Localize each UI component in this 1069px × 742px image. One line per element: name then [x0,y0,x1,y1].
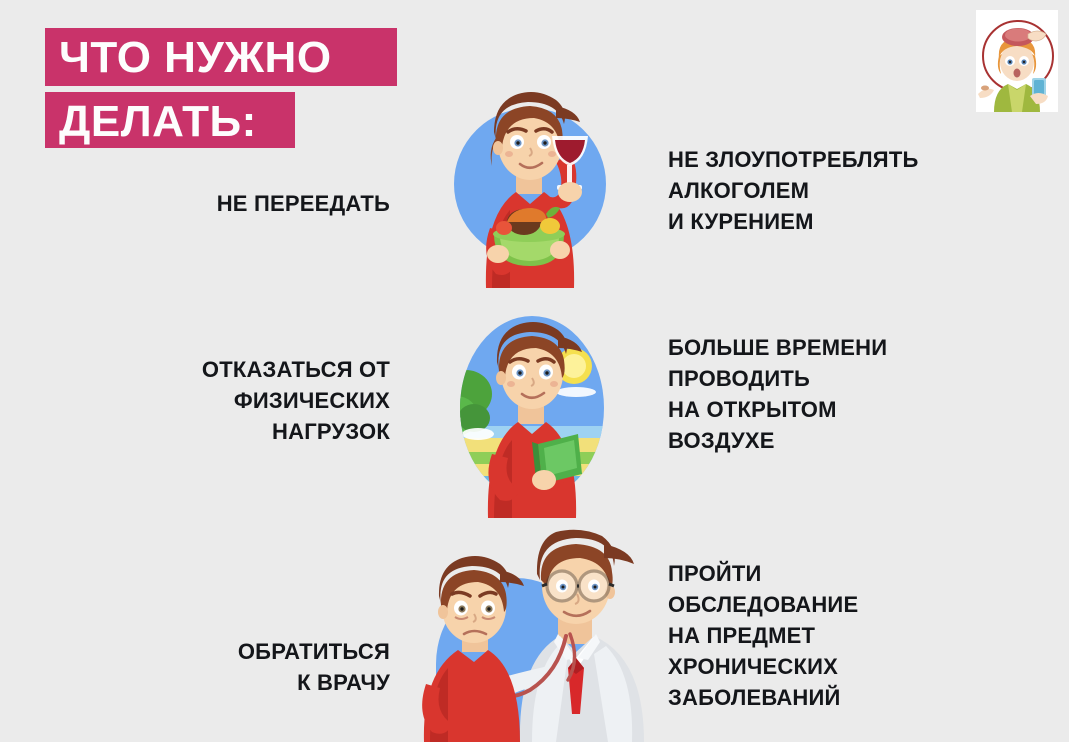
row-nutrition-right-label: НЕ ЗЛОУПОТРЕБЛЯТЬ АЛКОГОЛЕМ И КУРЕНИЕМ [668,144,918,237]
infographic-poster: ЧТО НУЖНО ДЕЛАТЬ: [0,0,1069,742]
boy-outdoors-with-book-and-sun-illustration [452,308,612,518]
row-activity-left-label: ОТКАЗАТЬСЯ ОТ ФИЗИЧЕСКИХ НАГРУЗОК [202,354,390,447]
row-nutrition-left-label: НЕ ПЕРЕЕДАТЬ [217,188,390,219]
doctor-examining-boy-with-stethoscope-illustration [408,524,666,742]
row-doctor-left-label: ОБРАТИТЬСЯ К ВРАЧУ [238,636,390,698]
row-doctor-right-label: ПРОЙТИ ОБСЛЕДОВАНИЕ НА ПРЕДМЕТ ХРОНИЧЕСК… [668,558,858,713]
row-activity-right-label: БОЛЬШЕ ВРЕМЕНИ ПРОВОДИТЬ НА ОТКРЫТОМ ВОЗ… [668,332,887,456]
title-line-1: ЧТО НУЖНО [45,28,397,86]
boy-with-food-bowl-and-wine-glass-illustration [452,88,612,288]
